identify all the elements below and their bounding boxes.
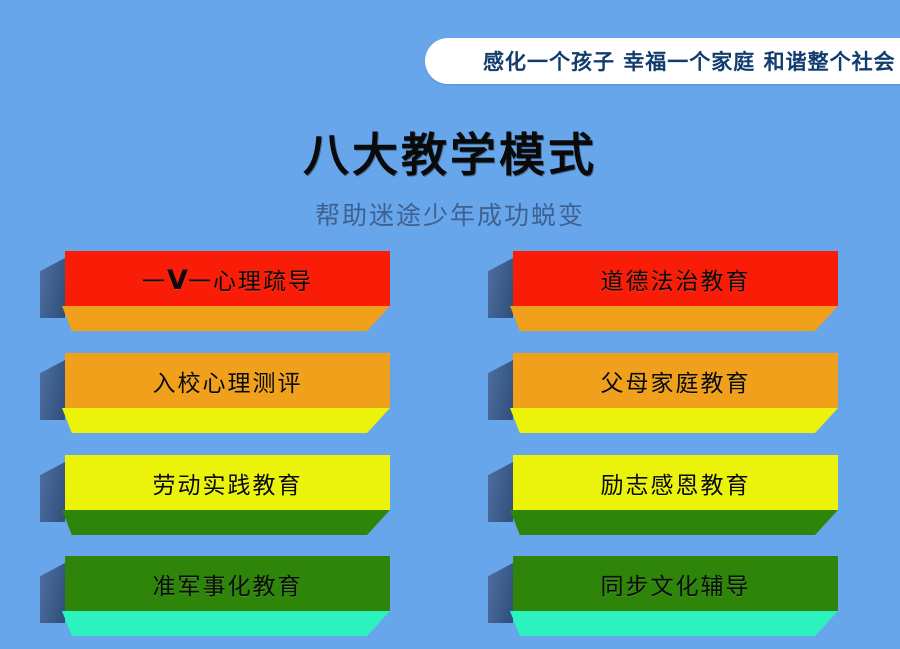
mode-label-3: 劳动实践教育 <box>153 466 303 500</box>
bar-top-face: 父母家庭教育 <box>513 353 838 408</box>
bar-top-face: 劳动实践教育 <box>65 455 390 510</box>
bar-side-face <box>488 360 513 420</box>
bar-side-face <box>488 563 513 623</box>
mode-bar-4[interactable]: 准军事化教育 <box>40 553 390 649</box>
mode-label-2: 入校心理测评 <box>153 364 303 398</box>
mode-label-5: 道德法治教育 <box>601 262 751 296</box>
mode-bar-2[interactable]: 入校心理测评 <box>40 350 390 446</box>
mode-bar-6[interactable]: 父母家庭教育 <box>488 350 838 446</box>
mode-label-6: 父母家庭教育 <box>601 364 751 398</box>
mode-bar-7[interactable]: 励志感恩教育 <box>488 452 838 548</box>
bar-side-face <box>40 258 65 318</box>
bar-base-face <box>510 611 838 636</box>
bar-base-face <box>62 408 390 433</box>
bar-top-face: 同步文化辅导 <box>513 556 838 611</box>
teaching-modes-grid: 一V一心理疏导 入校心理测评 劳动实践教育 准军事化教育 道德法治教育 <box>0 0 900 640</box>
mode-bar-8[interactable]: 同步文化辅导 <box>488 553 838 649</box>
mode-label-8: 同步文化辅导 <box>601 567 751 601</box>
bar-base-face <box>62 306 390 331</box>
bar-side-face <box>40 462 65 522</box>
bar-top-face: 准军事化教育 <box>65 556 390 611</box>
mode-label-4: 准军事化教育 <box>153 567 303 601</box>
mode-label-7: 励志感恩教育 <box>601 466 751 500</box>
mode-bar-1[interactable]: 一V一心理疏导 <box>40 248 390 344</box>
bar-top-face: 一V一心理疏导 <box>65 251 390 306</box>
bar-base-face <box>510 408 838 433</box>
bar-base-face <box>62 510 390 535</box>
bar-side-face <box>40 563 65 623</box>
bar-side-face <box>488 258 513 318</box>
bar-top-face: 入校心理测评 <box>65 353 390 408</box>
bar-base-face <box>62 611 390 636</box>
bar-side-face <box>488 462 513 522</box>
bar-base-face <box>510 510 838 535</box>
bar-top-face: 励志感恩教育 <box>513 455 838 510</box>
bar-base-face <box>510 306 838 331</box>
mode-bar-5[interactable]: 道德法治教育 <box>488 248 838 344</box>
mode-bar-3[interactable]: 劳动实践教育 <box>40 452 390 548</box>
bar-side-face <box>40 360 65 420</box>
mode-label-1: 一V一心理疏导 <box>142 262 313 296</box>
bar-top-face: 道德法治教育 <box>513 251 838 306</box>
